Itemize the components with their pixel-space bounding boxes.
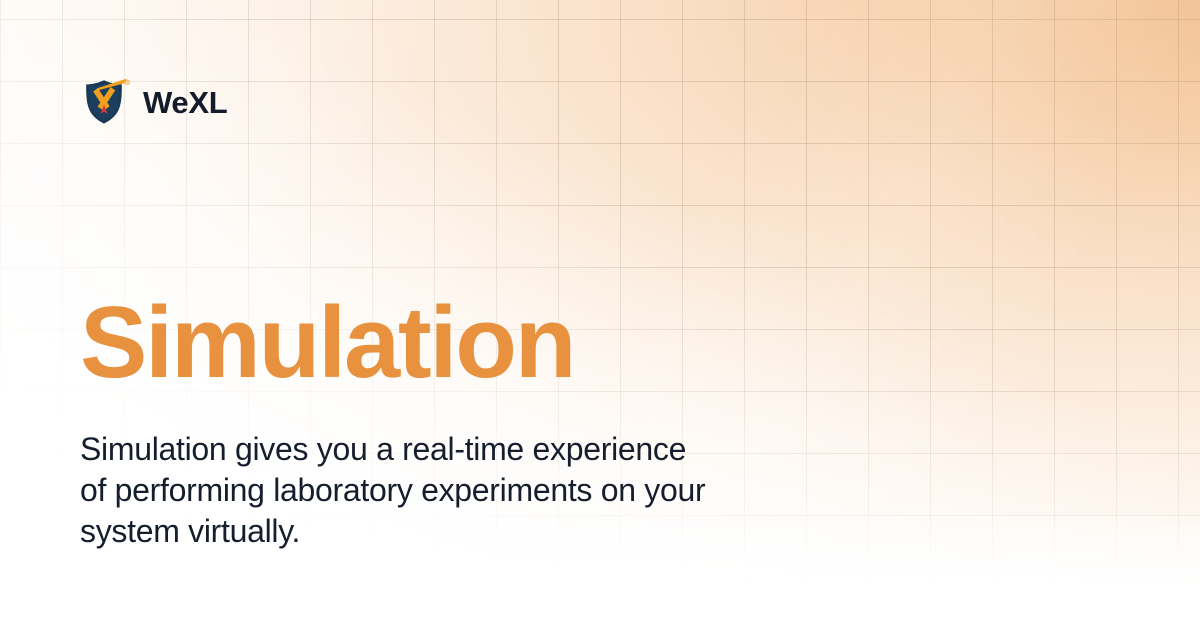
hero-description-line: of performing laboratory experiments on … <box>80 470 900 511</box>
hero-description-line: system virtually. <box>80 511 900 552</box>
banner-content: R WeXL Simulation Simulation gives you a… <box>0 0 1200 630</box>
hero-description-line: Simulation gives you a real-time experie… <box>80 429 900 470</box>
wexl-shield-logo-icon: R <box>78 76 130 128</box>
brand-lockup[interactable]: R WeXL <box>78 76 227 128</box>
page-title: Simulation <box>80 293 574 394</box>
brand-name: WeXL <box>143 87 227 118</box>
hero-description: Simulation gives you a real-time experie… <box>80 429 900 552</box>
hero-banner: R WeXL Simulation Simulation gives you a… <box>0 0 1200 630</box>
svg-text:R: R <box>126 80 128 84</box>
